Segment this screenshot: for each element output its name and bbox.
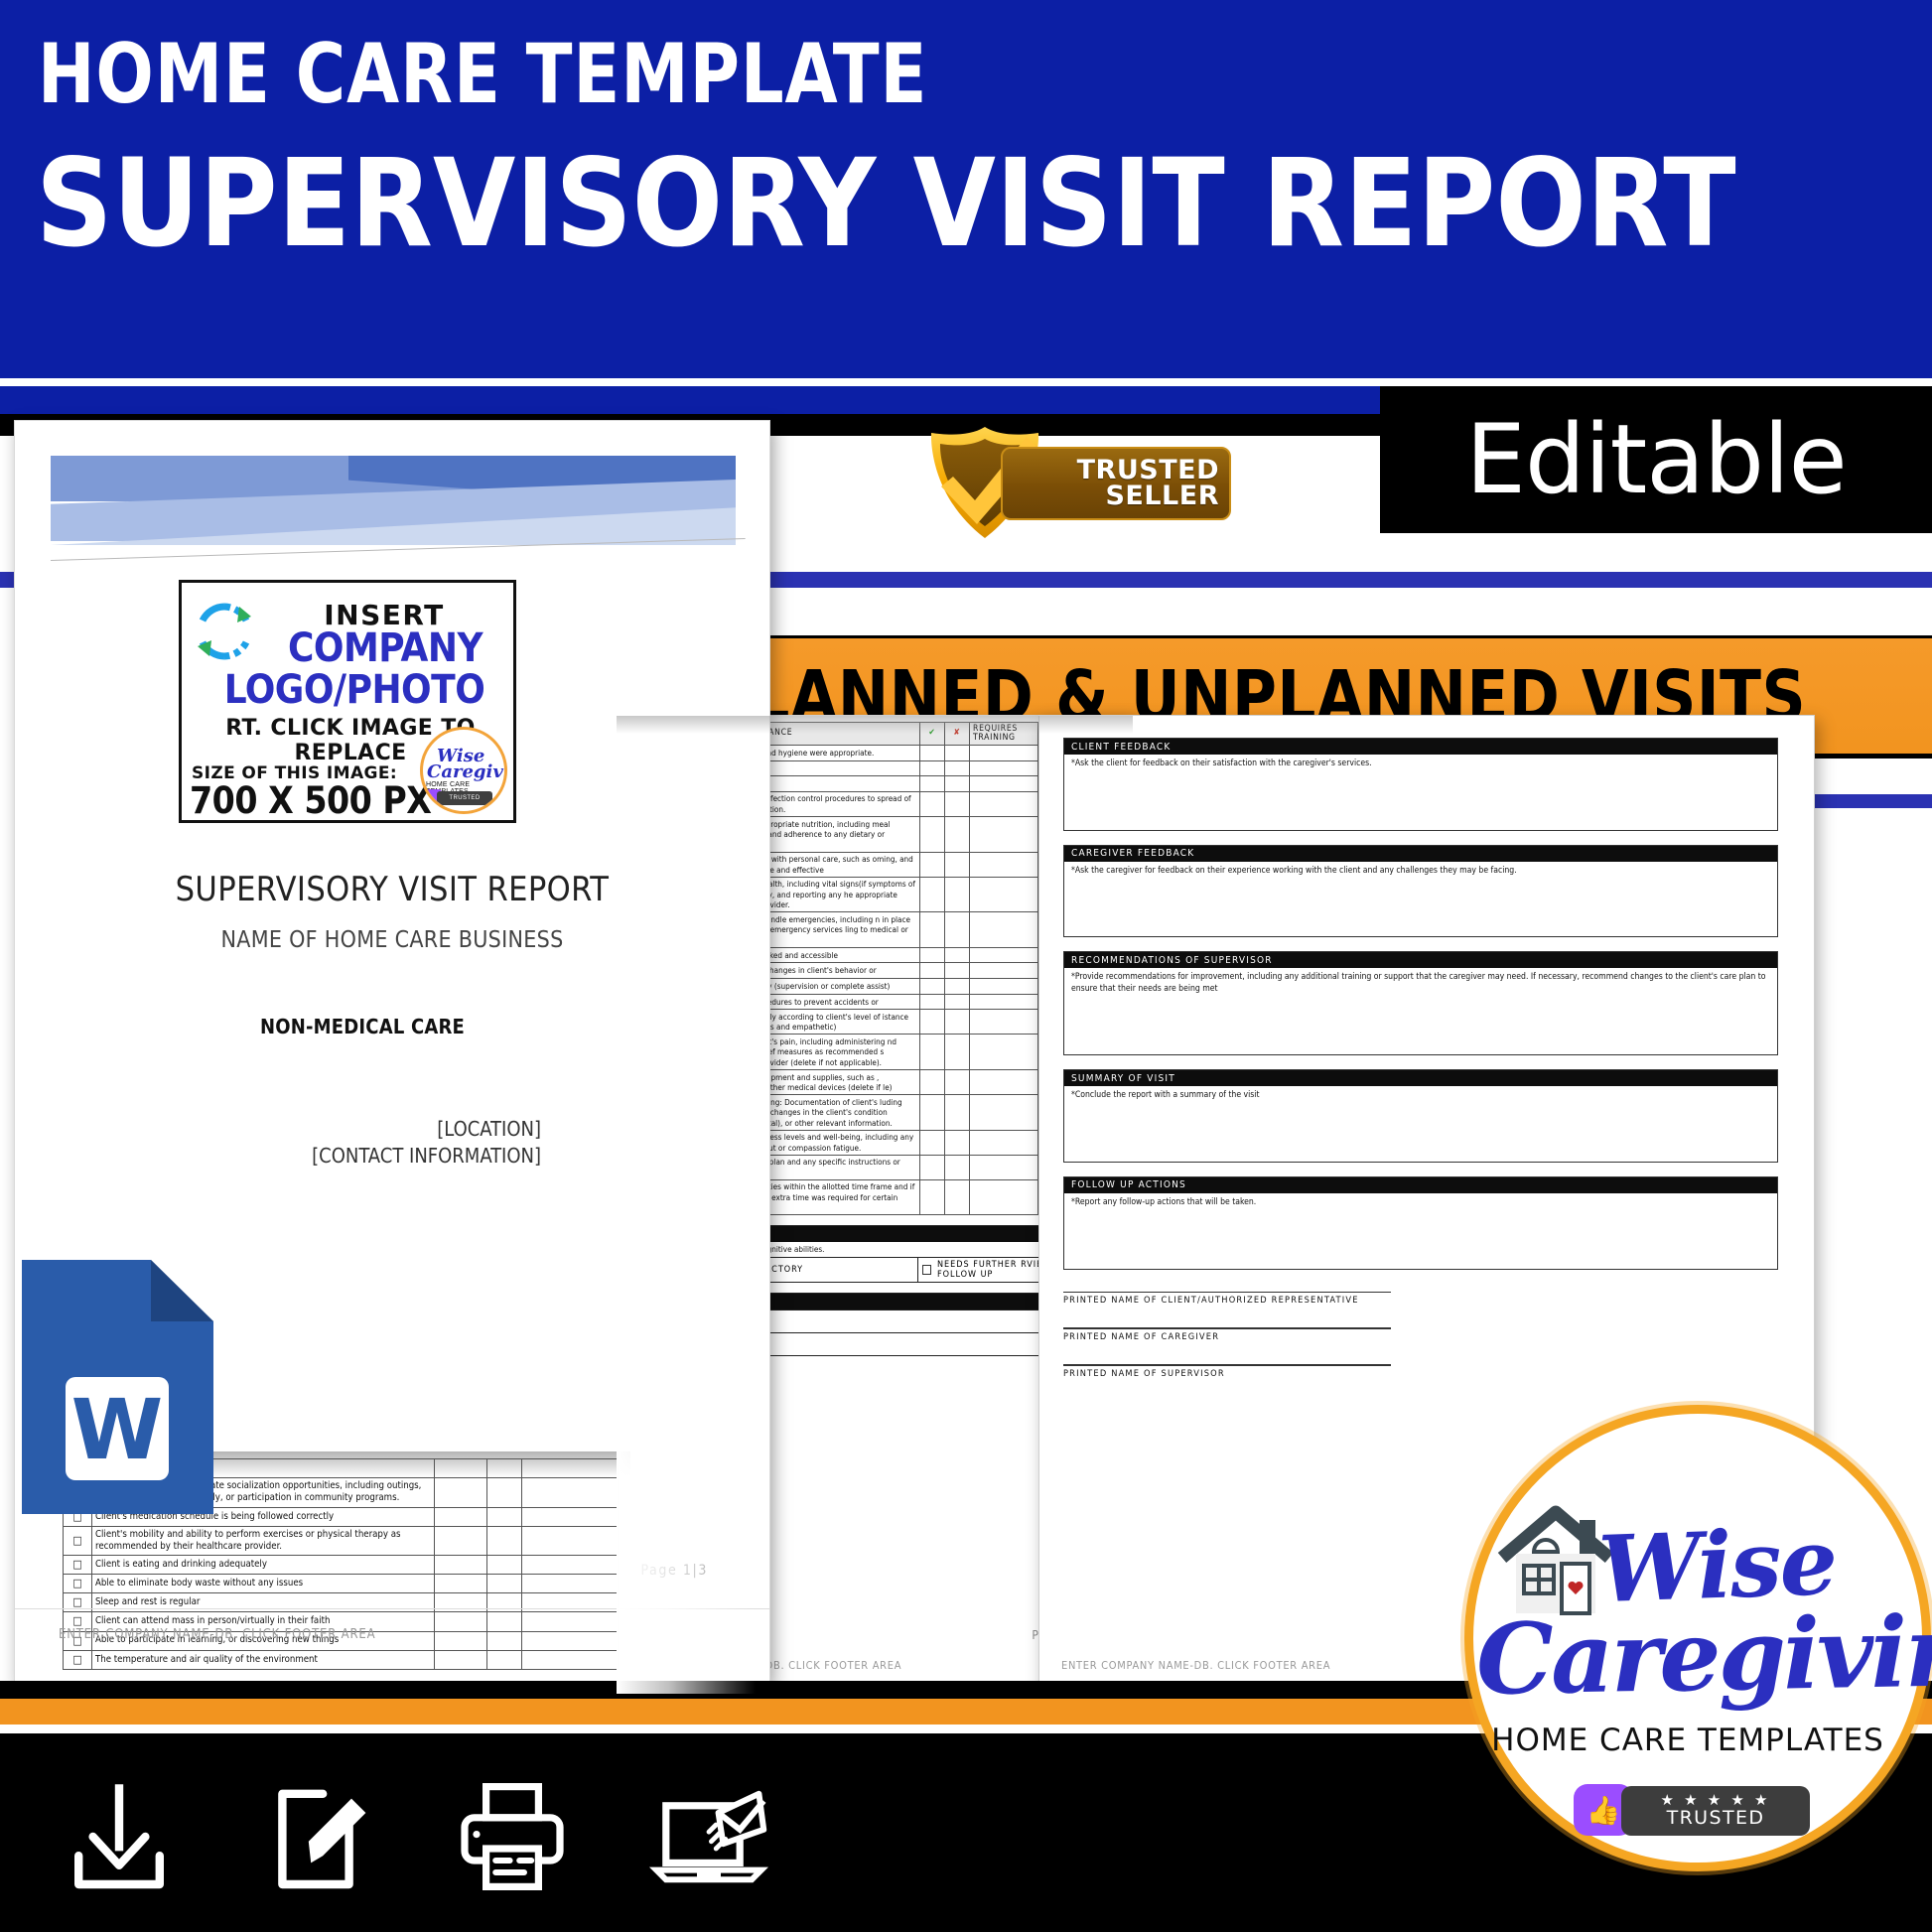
section-input-area[interactable] [1064, 1106, 1777, 1162]
row-training-cell[interactable] [970, 1035, 1038, 1070]
row-cross-cell[interactable] [945, 994, 970, 1010]
row-col-3 [522, 1556, 619, 1575]
row-training-cell[interactable] [970, 912, 1038, 948]
refresh-arrows-icon [194, 601, 255, 662]
row-cross-cell[interactable] [945, 1070, 970, 1095]
cover-hairline [51, 538, 746, 572]
section-header: CLIENT FEEDBACK [1064, 739, 1777, 755]
signature-line[interactable]: PRINTED NAME OF SUPERVISOR [1063, 1364, 1778, 1379]
row-cross-cell[interactable] [945, 745, 970, 760]
row-check-cell[interactable] [920, 947, 945, 963]
logo-photo-label: LOGO/PHOTO [206, 670, 503, 710]
feedback-section[interactable]: RECOMMENDATIONS OF SUPERVISOR*Provide re… [1063, 951, 1778, 1055]
row-col-3 [522, 1459, 619, 1478]
logo-placeholder-box[interactable]: INSERT COMPANY LOGO/PHOTO RT. CLICK IMAG… [179, 580, 516, 823]
row-cross-cell[interactable] [945, 979, 970, 995]
row-cross-cell[interactable] [945, 760, 970, 776]
table-row: □The temperature and air quality of the … [64, 1650, 619, 1669]
row-training-cell[interactable] [970, 1155, 1038, 1179]
row-checkbox[interactable]: □ [64, 1526, 92, 1556]
section-note: *Report any follow-up actions that will … [1064, 1193, 1777, 1213]
row-cross-cell[interactable] [945, 1035, 970, 1070]
row-training-cell[interactable] [970, 963, 1038, 979]
section-input-area[interactable] [1064, 774, 1777, 830]
feedback-section[interactable]: CLIENT FEEDBACK*Ask the client for feedb… [1063, 738, 1778, 831]
row-label: Client is eating and drinking adequately [92, 1556, 435, 1575]
row-cross-cell[interactable] [945, 852, 970, 877]
row-cross-cell[interactable] [945, 1010, 970, 1035]
row-training-cell[interactable] [970, 1130, 1038, 1155]
row-check-cell[interactable] [920, 963, 945, 979]
row-training-cell[interactable] [970, 1179, 1038, 1215]
row-training-cell[interactable] [970, 745, 1038, 760]
page1-footer: ENTER COMPANY NAME-DB. CLICK FOOTER AREA [59, 1627, 375, 1642]
section-note: *Conclude the report with a summary of t… [1064, 1086, 1777, 1106]
signature-label: PRINTED NAME OF CAREGIVER [1063, 1329, 1778, 1343]
feedback-sections: CLIENT FEEDBACK*Ask the client for feedb… [1063, 738, 1778, 1270]
row-cross-cell[interactable] [945, 817, 970, 853]
row-training-cell[interactable] [970, 776, 1038, 792]
row-training-cell[interactable] [970, 791, 1038, 816]
row-col-3 [522, 1650, 619, 1669]
row-col-3 [522, 1526, 619, 1556]
mini-logo-word2: Caregiving [427, 761, 507, 782]
option-checkbox[interactable] [922, 1265, 931, 1275]
page3-footer: ENTER COMPANY NAME-DB. CLICK FOOTER AREA [1061, 1659, 1330, 1672]
accent-bar-blue-top [0, 386, 1380, 414]
section-input-area[interactable] [1064, 999, 1777, 1054]
section-header: RECOMMENDATIONS OF SUPERVISOR [1064, 952, 1777, 968]
row-col-2 [487, 1650, 522, 1669]
hero-line-1: HOME CARE TEMPLATE [38, 36, 927, 114]
brand-logo: Wise Caregiving HOME CARE TEMPLATES 👍 ★ … [1454, 1395, 1921, 1891]
row-training-cell[interactable] [970, 947, 1038, 963]
row-cross-cell[interactable] [945, 963, 970, 979]
row-col-2 [487, 1556, 522, 1575]
section-header: FOLLOW UP ACTIONS [1064, 1177, 1777, 1193]
row-training-cell[interactable] [970, 994, 1038, 1010]
section-input-area[interactable] [1064, 881, 1777, 936]
edit-document-icon [256, 1777, 375, 1896]
row-cross-cell[interactable] [945, 947, 970, 963]
row-col-1 [435, 1507, 487, 1526]
feedback-section[interactable]: FOLLOW UP ACTIONS*Report any follow-up a… [1063, 1176, 1778, 1270]
feedback-section[interactable]: CAREGIVER FEEDBACK*Ask the caregiver for… [1063, 845, 1778, 938]
row-col-2 [487, 1631, 522, 1650]
section-input-area[interactable] [1064, 1213, 1777, 1269]
row-col-1 [435, 1650, 487, 1669]
download-icon [60, 1777, 179, 1896]
section-note: *Provide recommendations for improvement… [1064, 968, 1777, 999]
row-check-cell[interactable] [920, 994, 945, 1010]
page3-content: CLIENT FEEDBACK*Ask the client for feedb… [1063, 738, 1778, 1379]
row-col-1 [435, 1593, 487, 1612]
row-col-2 [487, 1478, 522, 1508]
row-label: Able to eliminate body waste without any… [92, 1575, 435, 1593]
row-col-2 [487, 1612, 522, 1631]
hero-header: HOME CARE TEMPLATE SUPERVISORY VISIT REP… [0, 0, 1932, 378]
hero-line-2: SUPERVISORY VISIT REPORT [36, 147, 1736, 262]
row-training-cell[interactable] [970, 1070, 1038, 1095]
row-col-3 [522, 1612, 619, 1631]
row-col-3 [522, 1631, 619, 1650]
row-check-cell[interactable] [920, 1155, 945, 1179]
logo-company-label: COMPANY [261, 628, 509, 668]
row-checkbox[interactable]: □ [64, 1556, 92, 1575]
page2-top-fade [617, 716, 1133, 734]
row-col-1 [435, 1459, 487, 1478]
row-col-3 [522, 1593, 619, 1612]
row-col-2 [487, 1459, 522, 1478]
brand-logo-tagline: HOME CARE TEMPLATES [1454, 1723, 1921, 1758]
page1-care-type: NON-MEDICAL CARE [15, 1015, 710, 1038]
row-col-2 [487, 1575, 522, 1593]
row-check-cell[interactable] [920, 745, 945, 760]
table-row: □Able to eliminate body waste without an… [64, 1575, 619, 1593]
row-check-cell[interactable] [920, 1070, 945, 1095]
row-label: Sleep and rest is regular [92, 1593, 435, 1612]
page1-address-block: [LOCATION] [CONTACT INFORMATION] [312, 1116, 541, 1170]
row-checkbox[interactable]: □ [64, 1575, 92, 1593]
row-label: The temperature and air quality of the e… [92, 1650, 435, 1669]
row-training-cell[interactable] [970, 1010, 1038, 1035]
row-cross-cell[interactable] [945, 912, 970, 948]
row-cross-cell[interactable] [945, 1155, 970, 1179]
row-training-cell[interactable] [970, 817, 1038, 853]
row-col-1 [435, 1478, 487, 1508]
row-training-cell[interactable] [970, 1095, 1038, 1131]
row-check-cell[interactable] [920, 852, 945, 877]
signature-label: PRINTED NAME OF CLIENT/AUTHORIZED REPRES… [1063, 1293, 1778, 1307]
row-training-cell[interactable] [970, 979, 1038, 995]
row-col-2 [487, 1526, 522, 1556]
email-laptop-icon [649, 1777, 768, 1896]
table-row: □Client is eating and drinking adequatel… [64, 1556, 619, 1575]
footer-icon-row [60, 1762, 854, 1911]
listing-image: HOME CARE TEMPLATE SUPERVISORY VISIT REP… [0, 0, 1932, 1932]
row-training-cell[interactable] [970, 852, 1038, 877]
word-document-icon: W [22, 1260, 213, 1514]
row-check-cell[interactable] [920, 791, 945, 816]
brand-badge-stars: ★ ★ ★ ★ ★ [1661, 1793, 1771, 1808]
row-check-cell[interactable] [920, 1095, 945, 1131]
row-col-2 [487, 1593, 522, 1612]
row-cross-cell[interactable] [945, 776, 970, 792]
row-col-3 [522, 1507, 619, 1526]
mini-trusted-badge: TRUSTED [437, 791, 492, 805]
row-check-cell[interactable] [920, 877, 945, 912]
signature-lines: PRINTED NAME OF CLIENT/AUTHORIZED REPRES… [1063, 1292, 1778, 1380]
brand-trusted-badge: 👍 ★ ★ ★ ★ ★ TRUSTED [1574, 1782, 1812, 1838]
brand-logo-word2: Caregiving [1475, 1593, 1932, 1718]
row-cross-cell[interactable] [945, 877, 970, 912]
cover-decoration-band [51, 456, 736, 545]
signature-line[interactable]: PRINTED NAME OF CLIENT/AUTHORIZED REPRES… [1063, 1292, 1778, 1307]
mini-brand-logo: Wise Caregiving HOME CARE TEMPLATES TRUS… [420, 727, 507, 814]
row-cross-cell[interactable] [945, 791, 970, 816]
table-row: □Sleep and rest is regular [64, 1593, 619, 1612]
row-check-cell[interactable] [920, 1010, 945, 1035]
row-col-2 [487, 1507, 522, 1526]
row-cross-cell[interactable] [945, 1130, 970, 1155]
feedback-section[interactable]: SUMMARY OF VISIT*Conclude the report wit… [1063, 1069, 1778, 1163]
table-row: □Client's mobility and ability to perfor… [64, 1526, 619, 1556]
row-check-cell[interactable] [920, 1179, 945, 1215]
row-label: Client's mobility and ability to perform… [92, 1526, 435, 1556]
svg-text:W: W [71, 1381, 164, 1478]
signature-line[interactable]: PRINTED NAME OF CAREGIVER [1063, 1327, 1778, 1342]
signature-label: PRINTED NAME OF SUPERVISOR [1063, 1366, 1778, 1380]
row-check-cell[interactable] [920, 760, 945, 776]
page2-left-fade [617, 716, 756, 1694]
row-col-1 [435, 1575, 487, 1593]
printer-icon [453, 1777, 572, 1896]
hero-underline [0, 378, 1932, 386]
row-col-1 [435, 1556, 487, 1575]
row-col-1 [435, 1526, 487, 1556]
row-check-cell[interactable] [920, 1130, 945, 1155]
row-training-cell[interactable] [970, 760, 1038, 776]
section-header: SUMMARY OF VISIT [1064, 1070, 1777, 1086]
row-check-cell[interactable] [920, 979, 945, 995]
row-check-cell[interactable] [920, 776, 945, 792]
logo-size-value: 700 X 500 PX [190, 779, 431, 822]
row-col-3 [522, 1478, 619, 1508]
page1-location: [LOCATION] [312, 1116, 541, 1143]
brand-badge-label: TRUSTED [1667, 1808, 1765, 1829]
row-col-1 [435, 1612, 487, 1631]
row-check-cell[interactable] [920, 912, 945, 948]
row-col-1 [435, 1631, 487, 1650]
row-training-cell[interactable] [970, 877, 1038, 912]
row-cross-cell[interactable] [945, 1179, 970, 1215]
row-check-cell[interactable] [920, 817, 945, 853]
row-checkbox[interactable]: □ [64, 1593, 92, 1612]
row-cross-cell[interactable] [945, 1095, 970, 1131]
section-header: CAREGIVER FEEDBACK [1064, 846, 1777, 862]
row-col-3 [522, 1575, 619, 1593]
row-checkbox[interactable]: □ [64, 1650, 92, 1669]
section-note: *Ask the client for feedback on their sa… [1064, 755, 1777, 774]
page1-contact: [CONTACT INFORMATION] [312, 1143, 541, 1170]
trusted-stars-plate: ★ ★ ★ ★ ★ TRUSTED [1621, 1786, 1810, 1836]
section-note: *Ask the caregiver for feedback on their… [1064, 862, 1777, 882]
row-check-cell[interactable] [920, 1035, 945, 1070]
